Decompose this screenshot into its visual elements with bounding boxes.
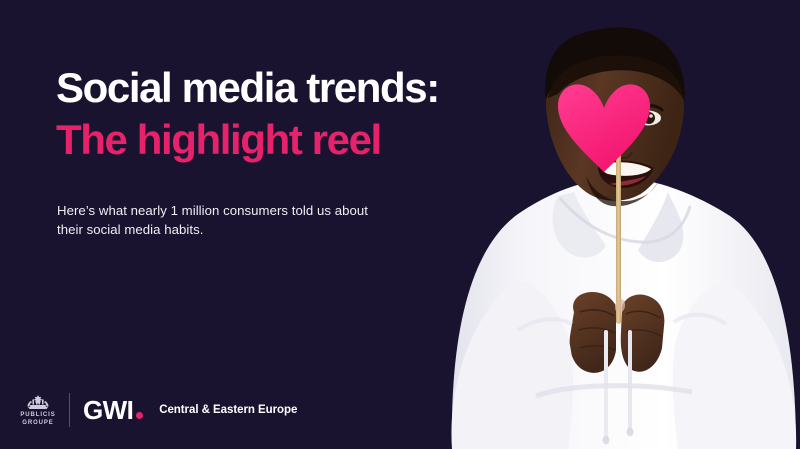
headline-line-2: The highlight reel bbox=[56, 114, 596, 166]
publicis-wordmark-line-1: PUBLICIS bbox=[20, 411, 55, 419]
publicis-groupe-logo: PUBLICIS GROUPE bbox=[16, 394, 60, 427]
subtitle-line-2: their social media habits. bbox=[57, 220, 457, 239]
subtitle-line-1: Here’s what nearly 1 million consumers t… bbox=[57, 201, 457, 220]
subtitle: Here’s what nearly 1 million consumers t… bbox=[57, 201, 457, 239]
gwi-dot-icon bbox=[136, 412, 143, 419]
headline-line-1: Social media trends: bbox=[56, 62, 596, 114]
gwi-logo: GWI bbox=[83, 397, 143, 423]
footer-logo-lockup: PUBLICIS GROUPE GWI Central & Eastern Eu… bbox=[16, 393, 297, 427]
headline: Social media trends: The highlight reel bbox=[56, 62, 596, 166]
gwi-wordmark: GWI bbox=[83, 397, 133, 423]
region-label: Central & Eastern Europe bbox=[159, 404, 297, 416]
slide-canvas: Social media trends: The highlight reel … bbox=[0, 0, 800, 449]
publicis-wordmark-line-2: GROUPE bbox=[22, 419, 53, 427]
publicis-crest-icon bbox=[23, 394, 53, 411]
logo-divider bbox=[69, 393, 70, 427]
